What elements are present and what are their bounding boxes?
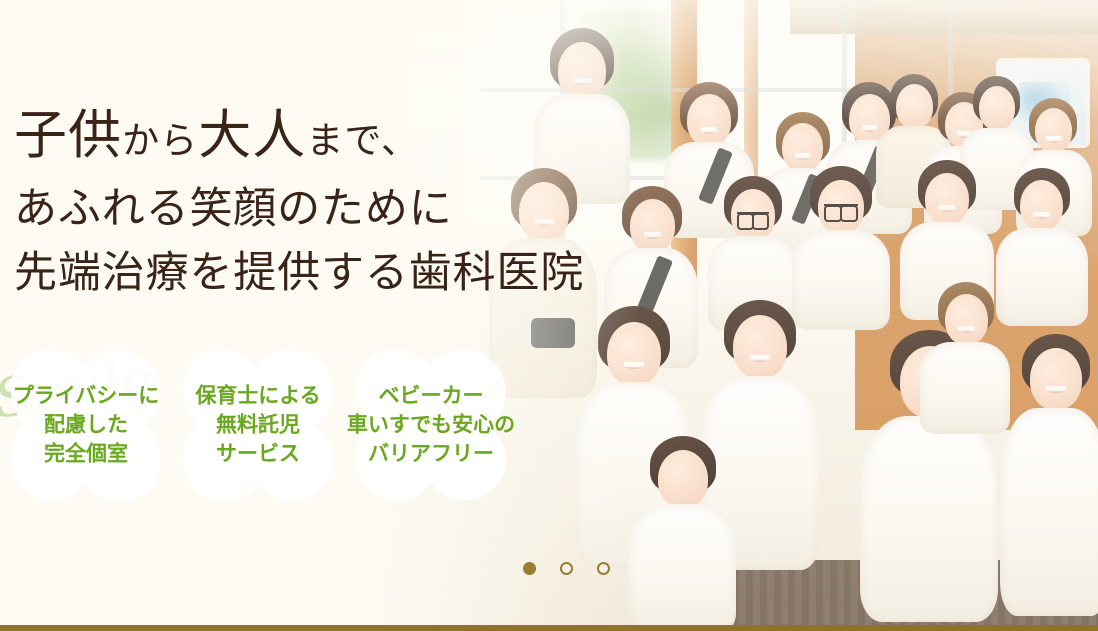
carousel-dot-3[interactable]: [597, 562, 610, 575]
hero-banner: 子供から大人まで、 あふれる笑顔のために 先端治療を提供する歯科医院 Smile…: [0, 0, 1098, 631]
headline-line-3: 先端治療を提供する歯科医院: [14, 244, 584, 304]
feature-badge-childcare-text: 保育士による 無料託児 サービス: [195, 382, 320, 469]
headline-kanji-adult: 大人: [198, 107, 306, 165]
headline-line-1: 子供から大人まで、: [14, 104, 584, 174]
headline-line-2: あふれる笑顔のために: [14, 180, 584, 240]
carousel-pagination: [0, 562, 1098, 575]
badge-line: バリアフリー: [347, 440, 515, 469]
badge-line: 完全個室: [13, 440, 160, 469]
feature-badge-privacy: プライバシーに 配慮した 完全個室: [6, 360, 166, 490]
headline-kanji-child: 子供: [14, 107, 122, 165]
badge-line: 車いすでも安心の: [347, 411, 515, 440]
badge-line: 保育士による: [195, 382, 320, 411]
photo-ceiling-beam: [790, 0, 1098, 34]
carousel-dot-1[interactable]: [523, 562, 536, 575]
badge-line: ベビーカー: [347, 382, 515, 411]
headline-kana-until: まで、: [306, 121, 419, 162]
headline-kana-from: から: [122, 121, 198, 162]
feature-badge-barrierfree: ベビーカー 車いすでも安心の バリアフリー: [346, 360, 516, 490]
badge-line: プライバシーに: [13, 382, 160, 411]
feature-badge-barrierfree-text: ベビーカー 車いすでも安心の バリアフリー: [347, 382, 515, 469]
photo-staff-member: [628, 436, 738, 631]
hero-headline: 子供から大人まで、 あふれる笑顔のために 先端治療を提供する歯科医院: [14, 104, 584, 304]
hero-photo: [0, 0, 1098, 631]
feature-badge-privacy-text: プライバシーに 配慮した 完全個室: [13, 382, 160, 469]
bottom-accent-bar: [0, 625, 1098, 631]
feature-badge-childcare: 保育士による 無料託児 サービス: [178, 360, 338, 490]
badge-line: 配慮した: [13, 411, 160, 440]
badge-line: サービス: [195, 440, 320, 469]
badge-line: 無料託児: [195, 411, 320, 440]
photo-staff-member: [920, 282, 1012, 432]
carousel-dot-2[interactable]: [560, 562, 573, 575]
